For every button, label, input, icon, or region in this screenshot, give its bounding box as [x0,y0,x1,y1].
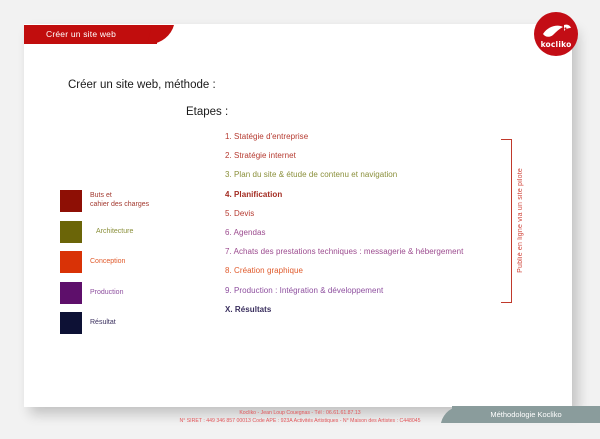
legend-swatch [60,312,82,334]
legend-label: Buts etcahier des charges [90,192,149,209]
side-note-label: Publié en ligne via un site pilote [517,168,524,273]
steps-list: 1. Statégie d'entreprise2. Stratégie int… [225,132,495,324]
legend-swatch [60,251,82,273]
step-item: 4. Planification [225,190,495,209]
step-item: 2. Stratégie internet [225,151,495,170]
slide-page: Créer un site web kocliko Créer un site … [0,0,600,439]
step-item: X. Résultats [225,305,495,324]
step-item: 1. Statégie d'entreprise [225,132,495,151]
step-item: 5. Devis [225,209,495,228]
footer-tab-label: Méthodologie Kocliko [490,410,561,419]
legend-label: Production [90,289,123,298]
step-item: 9. Production : Intégration & développem… [225,286,495,305]
step-item: 6. Agendas [225,228,495,247]
legend-swatch [60,221,82,243]
kocliko-logo: kocliko [534,12,578,56]
legend-label: Résultat [90,319,116,328]
side-note: Publié en ligne via un site pilote [513,139,527,301]
legend-swatch [60,190,82,212]
step-item: 7. Achats des prestations techniques : m… [225,247,495,266]
page-subtitle: Etapes : [186,106,228,118]
logo-wordmark: kocliko [534,40,578,49]
legend-swatch [60,282,82,304]
logo-circle: kocliko [534,12,578,56]
header-banner-label: Créer un site web [46,29,116,39]
step-item: 3. Plan du site & étude de contenu et na… [225,170,495,189]
header-banner: Créer un site web [24,25,157,44]
step-item: 8. Création graphique [225,266,495,285]
legend-label: Architecture [96,228,133,237]
bird-logo-icon [534,12,578,56]
legend-label: Conception [90,258,125,267]
phase-bracket [501,139,512,303]
footer-tab: Méthodologie Kocliko [452,406,600,423]
page-title: Créer un site web, méthode : [68,79,216,91]
